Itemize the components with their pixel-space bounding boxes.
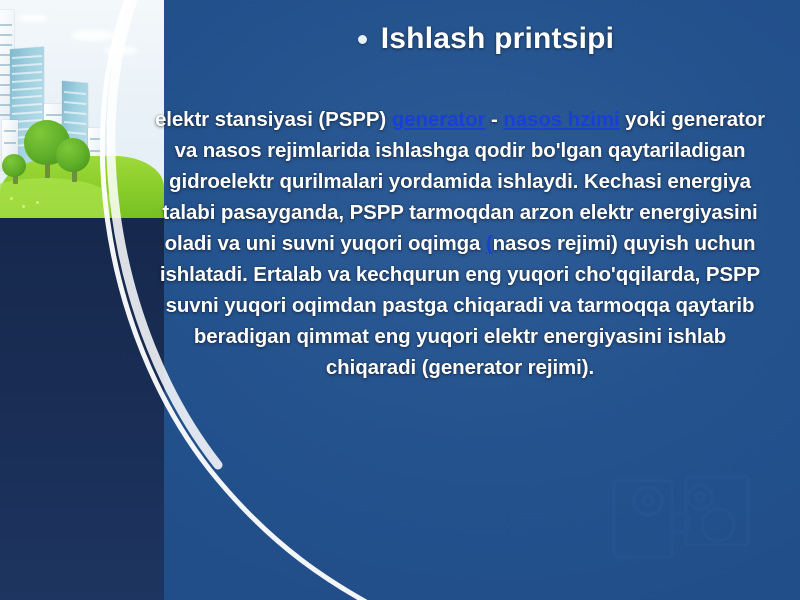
city-skyline-illustration (0, 0, 164, 218)
bullet-dot-icon (358, 35, 367, 44)
grass-highlight (0, 178, 110, 218)
body-segment-2: - (485, 108, 503, 131)
slide-title-row: Ishlash printsipi (196, 22, 776, 56)
presentation-slide: Ishlash printsipi elektr stansiyasi (PSP… (0, 0, 800, 600)
cloud-icon (70, 30, 116, 41)
cloud-icon (104, 46, 138, 55)
hyperlink-nasos-tizimi[interactable]: nasos hzimi (503, 108, 619, 131)
page-title: Ishlash printsipi (381, 22, 614, 56)
cloud-icon (18, 14, 48, 22)
grass-speck (22, 205, 25, 208)
tree-icon (2, 154, 26, 184)
hyperlink-open-paren[interactable]: ( (486, 232, 493, 255)
grass-speck (10, 197, 13, 200)
hyperlink-generator[interactable]: generator (392, 108, 486, 131)
tree-icon (56, 138, 90, 182)
left-navy-panel (0, 216, 164, 600)
grass-speck (36, 201, 39, 204)
body-segment-1: elektr stansiyasi (PSPP) (155, 108, 392, 131)
slide-body-text: elektr stansiyasi (PSPP) generator - nas… (150, 104, 770, 383)
